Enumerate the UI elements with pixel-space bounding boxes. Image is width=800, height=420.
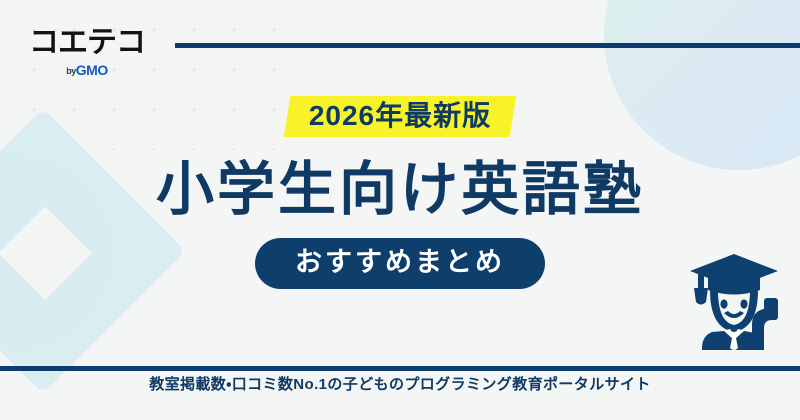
logo-by-label: by [66, 66, 76, 76]
recommendation-button[interactable]: おすすめまとめ [255, 238, 545, 289]
logo-byline: byGMO [28, 63, 146, 77]
kicker-wrapper: 2026年最新版 [0, 96, 800, 140]
logo-wordmark: コエテコ [28, 28, 146, 58]
top-divider-rule [175, 43, 800, 48]
headline-stack: 2026年最新版 小学生向け英語塾 おすすめまとめ [0, 96, 800, 289]
logo-brand-label: GMO [76, 62, 108, 78]
page-title: 小学生向け英語塾 [0, 158, 800, 222]
site-logo[interactable]: コエテコ byGMO [28, 28, 146, 77]
footer-tagline: 教室掲載数・口コミ数No.1の子どものプログラミング教育ポータルサイト [0, 377, 800, 392]
banner-root: コエテコ byGMO 2026年最新版 小学生向け英語塾 おすすめまとめ [0, 0, 800, 420]
cta-wrapper: おすすめまとめ [0, 238, 800, 289]
year-badge: 2026年最新版 [287, 96, 513, 137]
bottom-divider-rule [0, 366, 800, 371]
